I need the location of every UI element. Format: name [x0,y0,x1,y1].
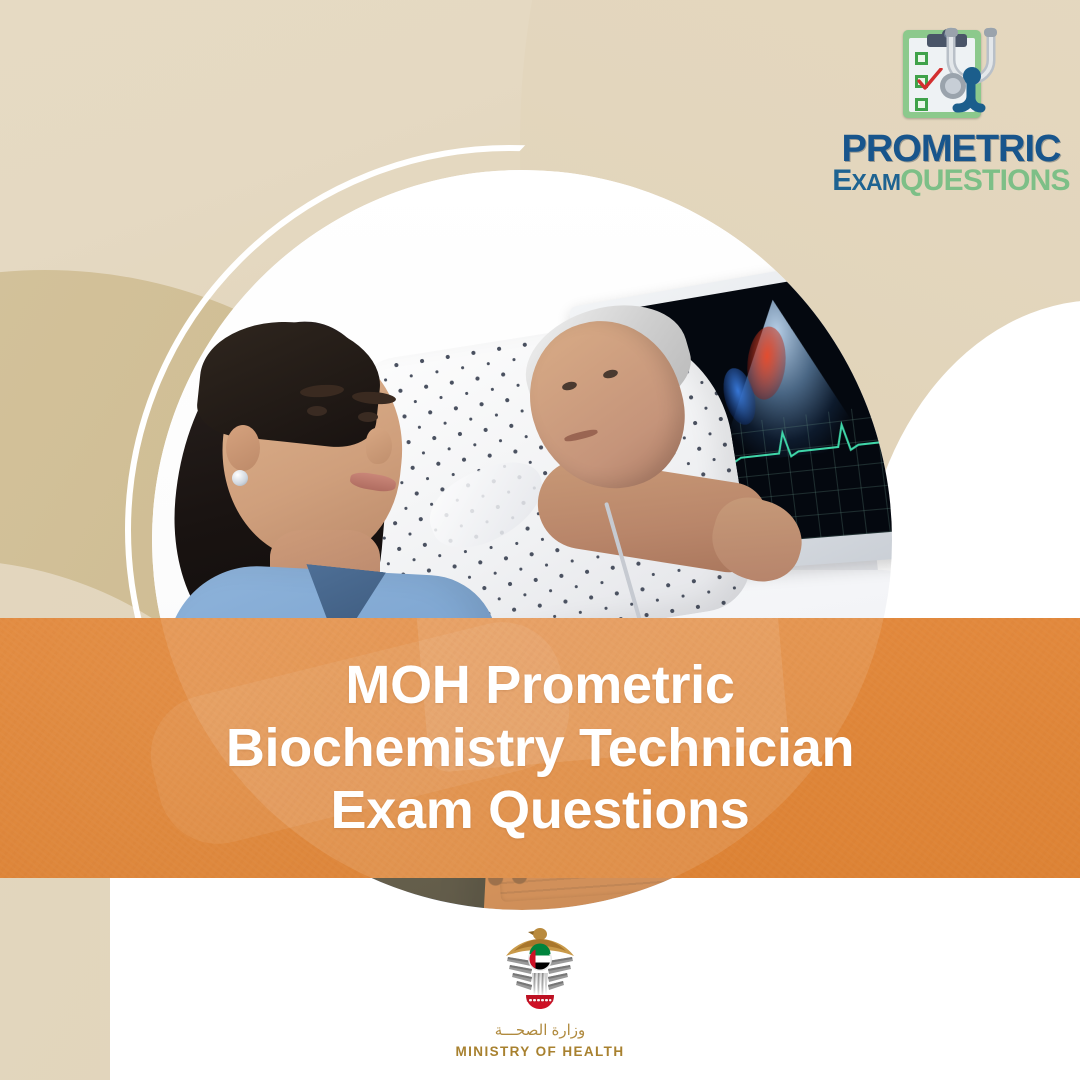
poster-canvas: MOH Prometric Biochemistry Technician Ex… [0,0,1080,1080]
technician-ear [226,425,260,471]
title-line-2: Biochemistry Technician [226,718,854,778]
checkbox-icon [915,52,928,65]
brand-tagline: EXAMQUESTIONS [832,167,1069,195]
title-band: MOH Prometric Biochemistry Technician Ex… [0,618,1080,878]
technician-nose [366,428,392,464]
checkbox-icon [915,98,928,111]
technician-earring [232,470,248,486]
stethoscope-icon [939,26,1007,126]
title-line-1: MOH Prometric [345,655,734,715]
ministry-name-arabic: وزارة الصحـــة [495,1021,586,1039]
brand-wordmark: PROMETRIC EXAMQUESTIONS [832,132,1069,195]
title-line-3: Exam Questions [331,780,750,840]
technician-eye [307,406,327,416]
brand-exam-cap: E [832,164,851,197]
ministry-of-health-logo: وزارة الصحـــة MINISTRY OF HEALTH [0,925,1080,1059]
poster-title: MOH Prometric Biochemistry Technician Ex… [0,618,1080,878]
uae-falcon-emblem-icon [498,925,582,1011]
ministry-name-english: MINISTRY OF HEALTH [456,1044,625,1059]
brand-exam-rest: XAM [852,169,901,195]
clipboard-stethoscope-icon [895,18,1007,130]
brand-questions-word: QUESTIONS [900,164,1070,197]
brand-exam-word: EXAM [832,164,900,197]
technician-eye [358,412,378,422]
brand-name: PROMETRIC [832,132,1069,167]
brand-logo[interactable]: PROMETRIC EXAMQUESTIONS [844,18,1058,195]
